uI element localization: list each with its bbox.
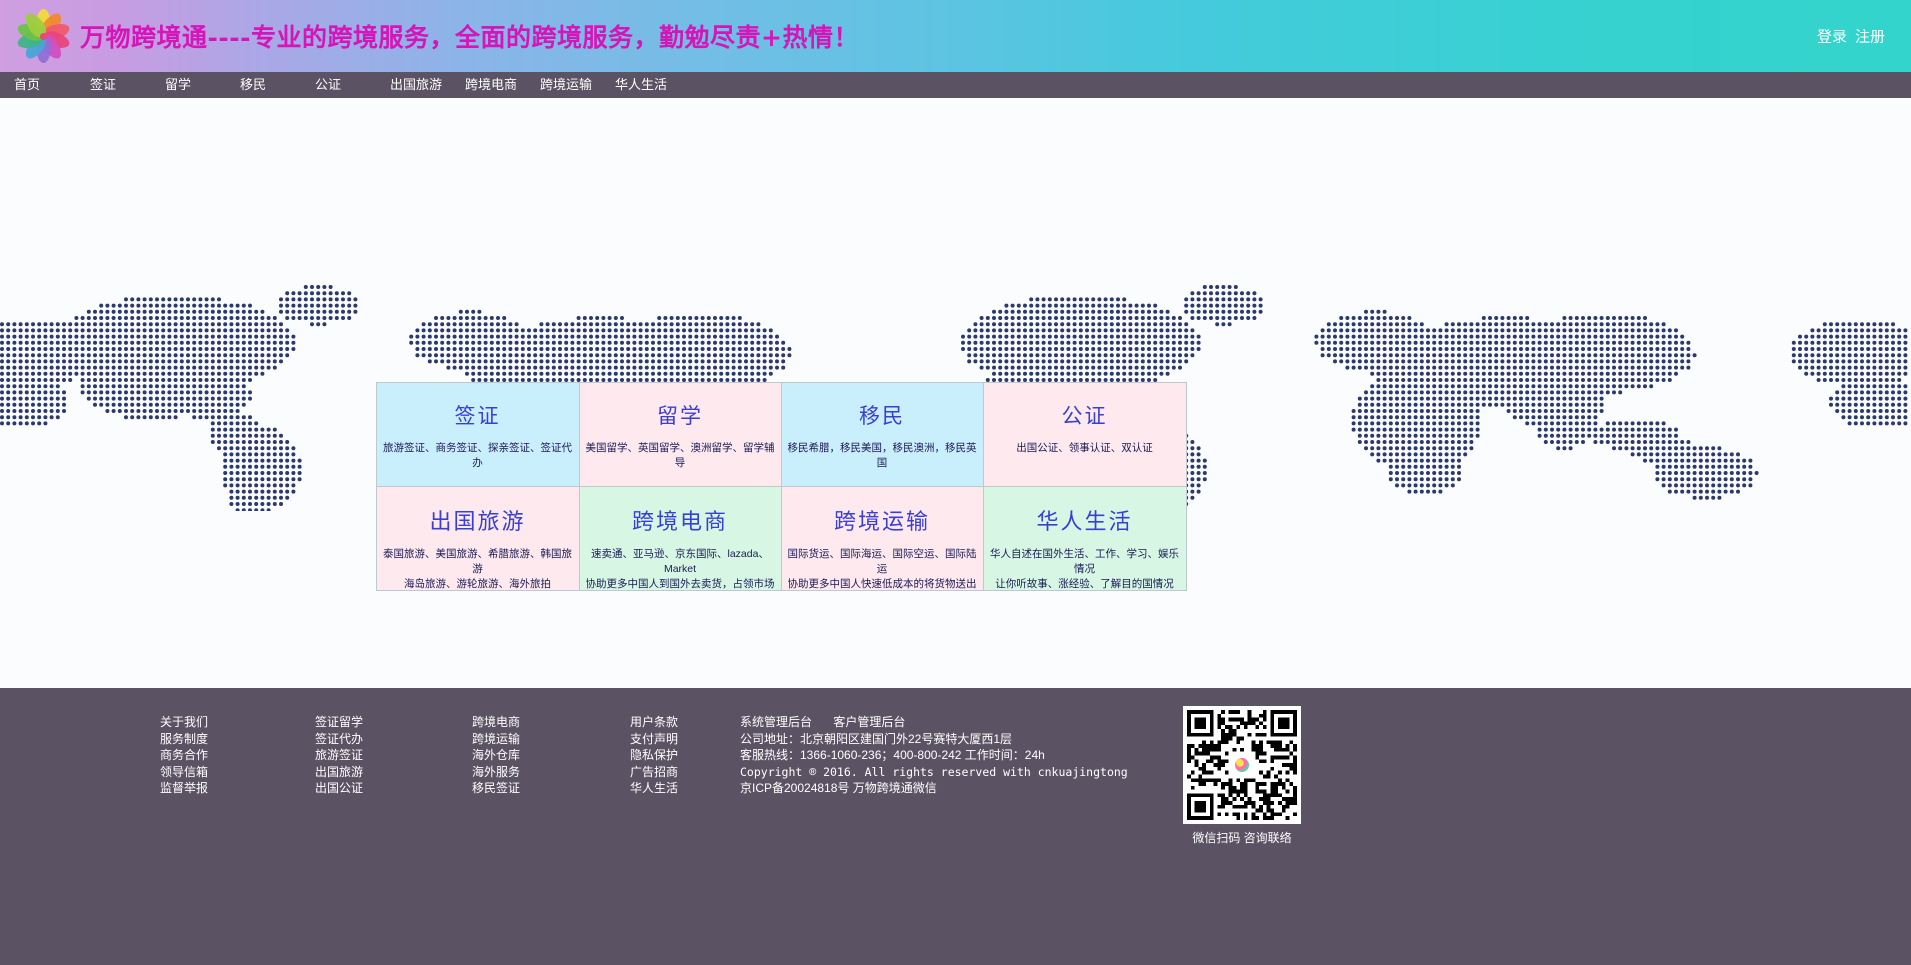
footer-copyright: Copyright ® 2016. All rights reserved wi… (740, 764, 1128, 781)
hero-section: 签证旅游签证、商务签证、探亲签证、签证代办留学美国留学、英国留学、澳洲留学、留学… (0, 98, 1911, 688)
service-card-description: 出国公证、领事认证、双认证 (1013, 441, 1156, 456)
service-card-title: 公证 (1062, 400, 1108, 430)
footer-link[interactable]: 广告招商 (630, 764, 678, 781)
footer-link[interactable]: 出国旅游 (315, 764, 363, 781)
footer-link[interactable]: 旅游签证 (315, 747, 363, 764)
logo-center-icon (40, 33, 47, 40)
footer-icp: 京ICP备20024818号 万物跨境通微信 (740, 780, 1128, 797)
service-card-description: 美国留学、英国留学、澳洲留学、留学辅导 (580, 441, 781, 471)
footer-link[interactable]: 跨境运输 (472, 731, 520, 748)
footer-link[interactable]: 领导信箱 (160, 764, 208, 781)
footer-column-4: 用户条款支付声明隐私保护广告招商华人生活 (630, 714, 678, 797)
footer-link[interactable]: 商务合作 (160, 747, 208, 764)
service-card-description: 华人自述在国外生活、工作、学习、娱乐情况 让你听故事、涨经验、了解目的国情况 (984, 547, 1186, 591)
service-card-2[interactable]: 留学美国留学、英国留学、澳洲留学、留学辅导 (579, 382, 782, 487)
footer-hotline: 客服热线：1366-1060-236；400-800-242 工作时间：24h (740, 747, 1128, 764)
nav-item-2[interactable]: 签证 (90, 72, 165, 98)
service-card-3[interactable]: 移民移民希腊，移民美国，移民澳洲，移民英国 (781, 382, 984, 487)
nav-item-5[interactable]: 公证 (315, 72, 390, 98)
service-card-title: 留学 (657, 400, 703, 430)
footer-link[interactable]: 移民签证 (472, 780, 520, 797)
auth-links: 登录 注册 (1817, 26, 1885, 47)
admin-backend-link[interactable]: 系统管理后台 (740, 715, 812, 729)
service-card-4[interactable]: 公证出国公证、领事认证、双认证 (983, 382, 1187, 487)
customer-backend-link[interactable]: 客户管理后台 (833, 715, 905, 729)
service-card-title: 签证 (455, 400, 501, 430)
nav-item-3[interactable]: 留学 (165, 72, 240, 98)
footer-link[interactable]: 支付声明 (630, 731, 678, 748)
footer-column-1: 关于我们服务制度商务合作领导信箱监督举报 (160, 714, 208, 797)
site-header: 万物跨境通----专业的跨境服务，全面的跨境服务，勤勉尽责+热情！ 登录 注册 (0, 0, 1911, 72)
footer-admin-links: 系统管理后台 客户管理后台 (740, 714, 1128, 731)
nav-item-8[interactable]: 跨境运输 (540, 72, 615, 98)
service-card-description: 旅游签证、商务签证、探亲签证、签证代办 (377, 441, 579, 471)
footer-link[interactable]: 出国公证 (315, 780, 363, 797)
nav-item-4[interactable]: 移民 (240, 72, 315, 98)
footer-link[interactable]: 跨境电商 (472, 714, 520, 731)
footer-column-3: 跨境电商跨境运输海外仓库海外服务移民签证 (472, 714, 520, 797)
service-card-6[interactable]: 跨境电商速卖通、亚马逊、京东国际、lazada、Market 协助更多中国人到国… (579, 486, 782, 591)
service-card-description: 国际货运、国际海运、国际空运、国际陆运 协助更多中国人快速低成本的将货物送出去 (782, 547, 983, 591)
service-card-title: 出国旅游 (429, 504, 525, 536)
service-card-title: 华人生活 (1036, 504, 1132, 536)
footer-link[interactable]: 服务制度 (160, 731, 208, 748)
login-link[interactable]: 登录 (1817, 26, 1847, 47)
footer-link[interactable]: 签证代办 (315, 731, 363, 748)
footer-info: 系统管理后台 客户管理后台 公司地址：北京朝阳区建国门外22号赛特大厦西1层 客… (740, 714, 1128, 797)
footer-link[interactable]: 华人生活 (630, 780, 678, 797)
service-card-5[interactable]: 出国旅游泰国旅游、美国旅游、希腊旅游、韩国旅游 海岛旅游、游轮旅游、海外旅拍 (376, 486, 580, 591)
nav-item-7[interactable]: 跨境电商 (465, 72, 540, 98)
site-footer: 关于我们服务制度商务合作领导信箱监督举报 签证留学签证代办旅游签证出国旅游出国公… (0, 688, 1911, 965)
qr-code-image (1183, 706, 1301, 824)
service-card-title: 跨境电商 (632, 504, 728, 536)
main-nav: 首页签证留学移民公证出国旅游跨境电商跨境运输华人生活 (0, 72, 1911, 98)
service-card-7[interactable]: 跨境运输国际货运、国际海运、国际空运、国际陆运 协助更多中国人快速低成本的将货物… (781, 486, 984, 591)
footer-link[interactable]: 监督举报 (160, 780, 208, 797)
footer-link[interactable]: 关于我们 (160, 714, 208, 731)
service-card-8[interactable]: 华人生活华人自述在国外生活、工作、学习、娱乐情况 让你听故事、涨经验、了解目的国… (983, 486, 1187, 591)
footer-link[interactable]: 海外服务 (472, 764, 520, 781)
nav-item-6[interactable]: 出国旅游 (390, 72, 465, 98)
flower-logo[interactable] (14, 6, 72, 66)
service-card-title: 跨境运输 (834, 504, 930, 536)
footer-link[interactable]: 用户条款 (630, 714, 678, 731)
service-card-grid: 签证旅游签证、商务签证、探亲签证、签证代办留学美国留学、英国留学、澳洲留学、留学… (376, 382, 1186, 590)
wechat-qr-block: 微信扫码 咨询联络 (1168, 706, 1316, 846)
register-link[interactable]: 注册 (1855, 26, 1885, 47)
footer-column-2: 签证留学签证代办旅游签证出国旅游出国公证 (315, 714, 363, 797)
service-card-description: 速卖通、亚马逊、京东国际、lazada、Market 协助更多中国人到国外去卖货… (580, 547, 781, 591)
nav-item-1[interactable]: 首页 (14, 72, 90, 98)
footer-link[interactable]: 隐私保护 (630, 747, 678, 764)
site-title: 万物跨境通----专业的跨境服务，全面的跨境服务，勤勉尽责+热情！ (80, 18, 859, 54)
nav-item-9[interactable]: 华人生活 (615, 72, 690, 98)
footer-link[interactable]: 签证留学 (315, 714, 363, 731)
footer-link[interactable]: 海外仓库 (472, 747, 520, 764)
service-card-1[interactable]: 签证旅游签证、商务签证、探亲签证、签证代办 (376, 382, 580, 487)
service-card-description: 泰国旅游、美国旅游、希腊旅游、韩国旅游 海岛旅游、游轮旅游、海外旅拍 (377, 547, 579, 591)
qr-logo-icon (1233, 756, 1251, 774)
service-card-description: 移民希腊，移民美国，移民澳洲，移民英国 (782, 441, 983, 471)
qr-caption: 微信扫码 咨询联络 (1168, 829, 1316, 846)
footer-address: 公司地址：北京朝阳区建国门外22号赛特大厦西1层 (740, 731, 1128, 748)
service-card-title: 移民 (859, 400, 905, 430)
